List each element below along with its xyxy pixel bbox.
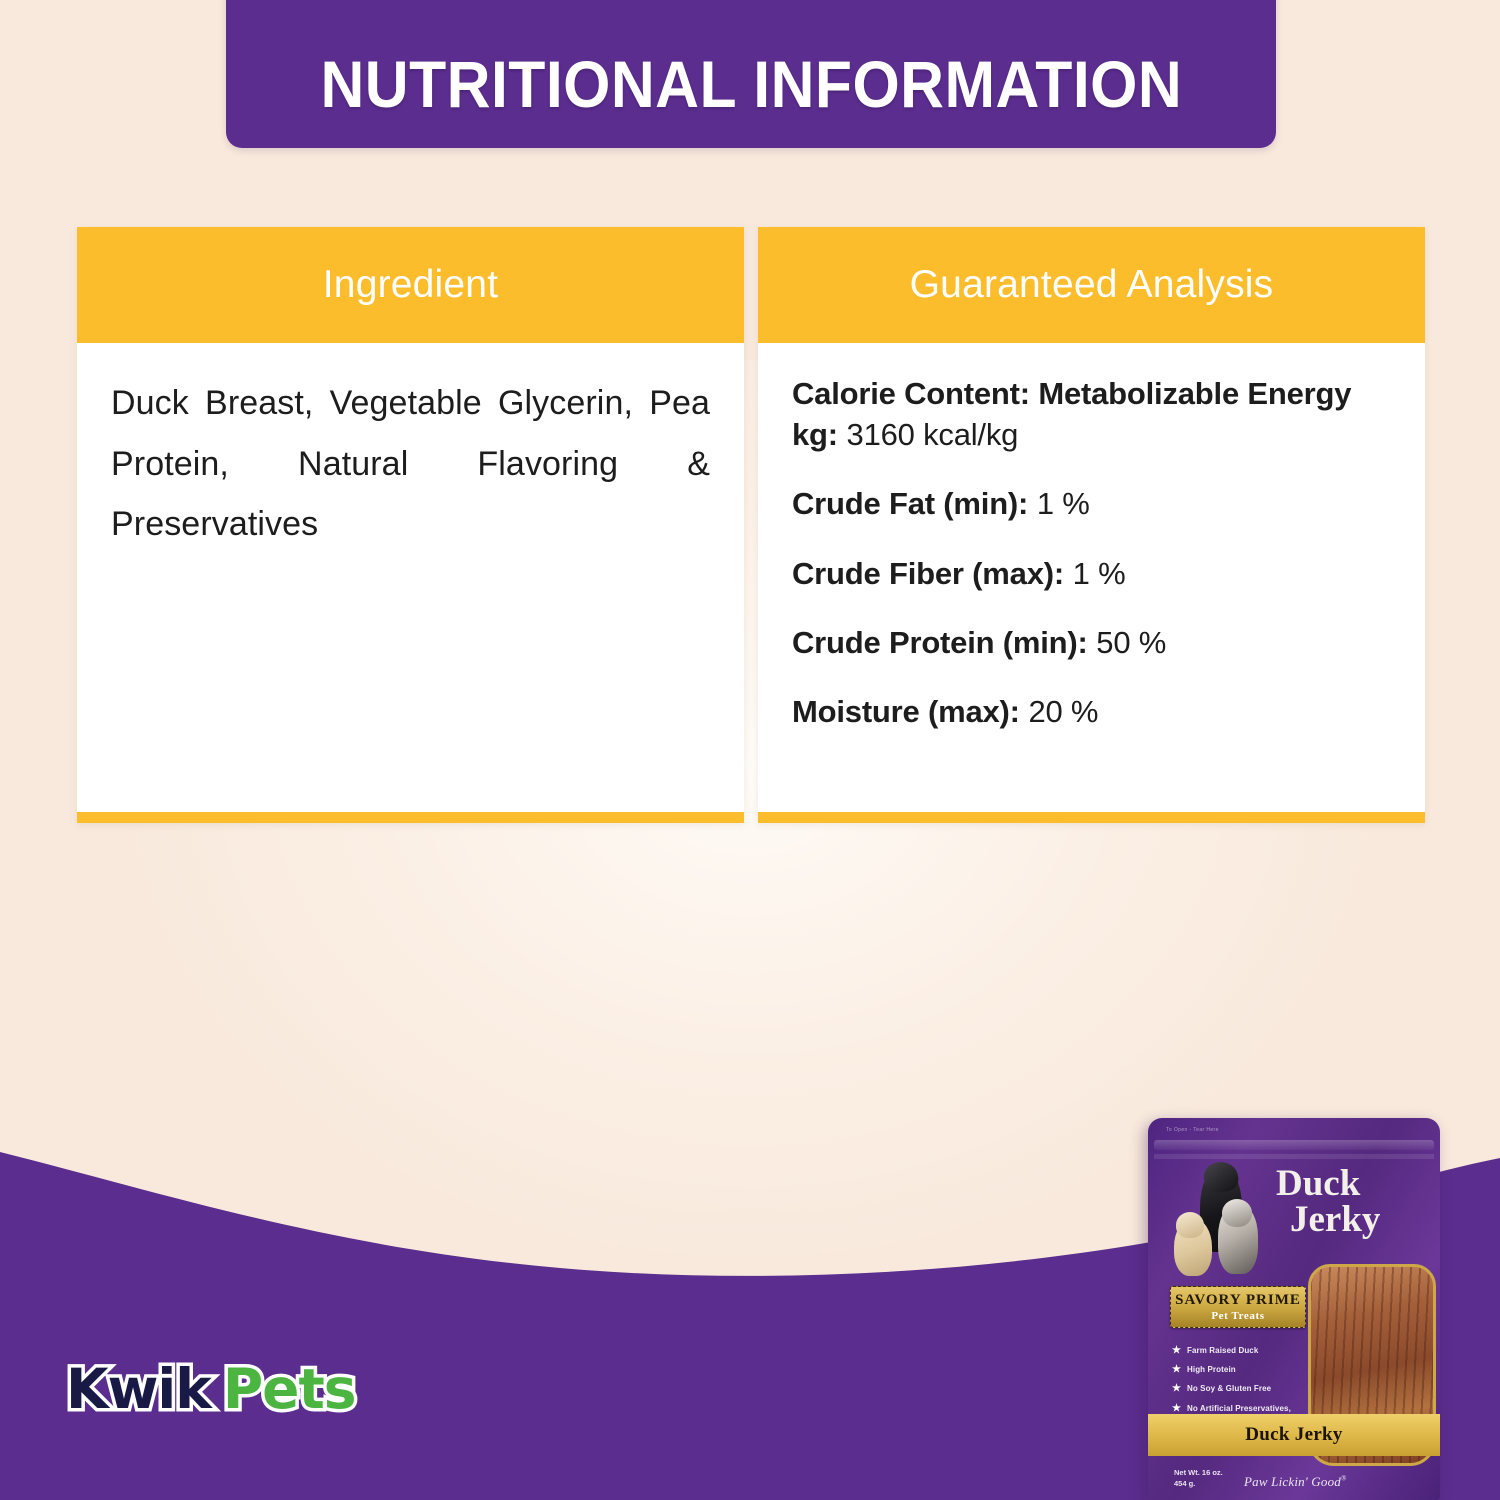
ingredient-card: Ingredient Duck Breast, Vegetable Glycer… xyxy=(77,227,744,823)
package-dogs-photo xyxy=(1174,1166,1270,1276)
savory-prime-badge: SAVORY PRIME Pet Treats xyxy=(1170,1286,1306,1328)
analysis-row-label: Moisture (max): xyxy=(792,694,1020,729)
package-net-weight: Net Wt. 16 oz. 454 g. xyxy=(1174,1468,1223,1489)
spaniel-dog-head-icon xyxy=(1222,1199,1252,1227)
analysis-list: Calorie Content: Metabolizable Energy kg… xyxy=(792,373,1391,732)
package-gold-band: Duck Jerky xyxy=(1148,1414,1440,1456)
ingredient-card-body: Duck Breast, Vegetable Glycerin, Pea Pro… xyxy=(77,343,744,812)
kwik-pets-logo: KwikPets xyxy=(66,1357,356,1421)
package-feature-item: Farm Raised Duck xyxy=(1172,1346,1308,1356)
analysis-header-label: Guaranteed Analysis xyxy=(910,263,1274,307)
ingredient-header-label: Ingredient xyxy=(323,263,498,307)
package-feature-item: No Soy & Gluten Free xyxy=(1172,1384,1308,1394)
analysis-row: Moisture (max): 20 % xyxy=(792,691,1391,732)
package-feature-item: High Protein xyxy=(1172,1365,1308,1375)
package-tear-notice: To Open - Tear Here xyxy=(1166,1127,1219,1133)
package-zipper xyxy=(1154,1140,1434,1150)
analysis-card-header: Guaranteed Analysis xyxy=(758,227,1425,343)
package-title-line1: Duck xyxy=(1276,1163,1360,1204)
brand-subtitle-label: Pet Treats xyxy=(1171,1310,1305,1322)
logo-text-kwik: Kwik xyxy=(66,1357,211,1421)
ingredient-card-footer-bar xyxy=(77,812,744,823)
infographic-canvas: NUTRITIONAL INFORMATION Ingredient Duck … xyxy=(0,0,1500,1500)
info-cards-row: Ingredient Duck Breast, Vegetable Glycer… xyxy=(77,227,1425,823)
package-tagline: Paw Lickin' Good® xyxy=(1244,1474,1347,1490)
analysis-row-label: Crude Fiber (max): xyxy=(792,556,1064,591)
title-banner: NUTRITIONAL INFORMATION xyxy=(226,0,1276,148)
terrier-dog-head-icon xyxy=(1176,1212,1204,1238)
analysis-row-value: 1 % xyxy=(1037,486,1090,521)
package-band-label: Duck Jerky xyxy=(1245,1424,1342,1446)
brand-name-label: SAVORY PRIME xyxy=(1175,1292,1301,1308)
net-weight-line-2: 454 g. xyxy=(1174,1479,1223,1490)
ingredient-card-header: Ingredient xyxy=(77,227,744,343)
analysis-row: Crude Fiber (max): 1 % xyxy=(792,553,1391,594)
product-package-image: To Open - Tear Here Duck Jerky SAVORY PR… xyxy=(1148,1118,1440,1500)
analysis-card-body: Calorie Content: Metabolizable Energy kg… xyxy=(758,343,1425,812)
analysis-row-value: 20 % xyxy=(1028,694,1098,729)
logo-text-pets: Pets xyxy=(223,1357,356,1421)
analysis-row: Crude Protein (min): 50 % xyxy=(792,622,1391,663)
analysis-row-label: Crude Fat (min): xyxy=(792,486,1028,521)
tagline-text: Paw Lickin' Good xyxy=(1244,1474,1341,1489)
package-title-line2: Jerky xyxy=(1290,1202,1380,1238)
analysis-row-value: 1 % xyxy=(1073,556,1126,591)
registered-mark: ® xyxy=(1341,1475,1347,1483)
package-zipper-seam xyxy=(1154,1154,1434,1159)
analysis-card: Guaranteed Analysis Calorie Content: Met… xyxy=(758,227,1425,823)
ingredient-list-text: Duck Breast, Vegetable Glycerin, Pea Pro… xyxy=(111,373,710,555)
analysis-row: Calorie Content: Metabolizable Energy kg… xyxy=(792,373,1391,455)
package-product-title: Duck Jerky xyxy=(1276,1166,1380,1239)
analysis-card-footer-bar xyxy=(758,812,1425,823)
analysis-row-value: 3160 kcal/kg xyxy=(847,417,1019,452)
analysis-row-label: Crude Protein (min): xyxy=(792,625,1088,660)
analysis-row: Crude Fat (min): 1 % xyxy=(792,483,1391,524)
analysis-row-value: 50 % xyxy=(1096,625,1166,660)
net-weight-line-1: Net Wt. 16 oz. xyxy=(1174,1468,1223,1479)
page-title: NUTRITIONAL INFORMATION xyxy=(320,46,1182,122)
